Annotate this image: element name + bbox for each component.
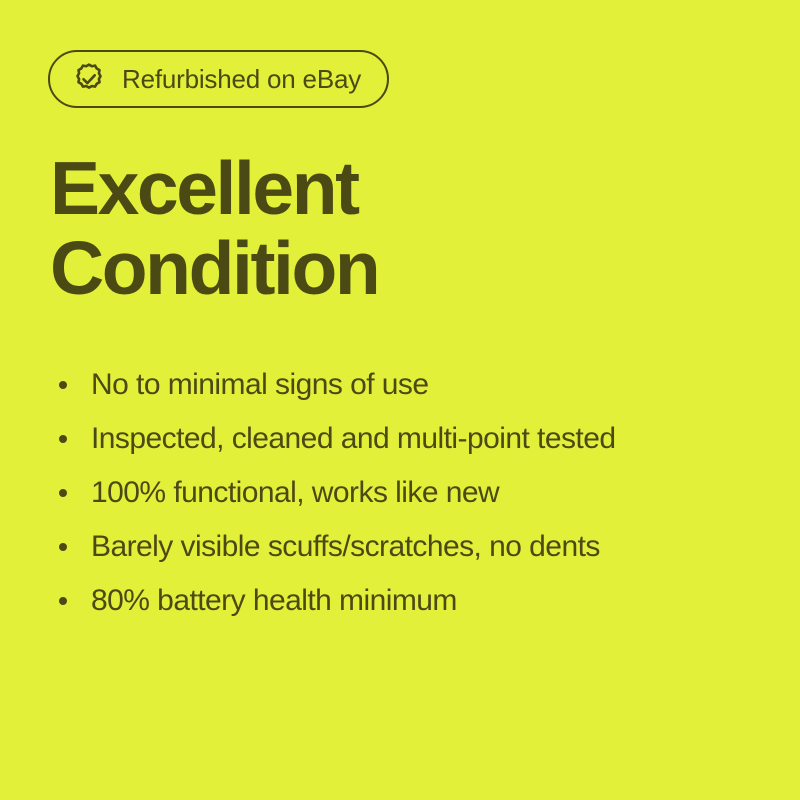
bullet-dot-icon [59, 597, 67, 605]
bullet-dot-icon [59, 543, 67, 551]
page-title: Excellent Condition [50, 148, 750, 308]
refurbished-badge: Refurbished on eBay [48, 50, 389, 108]
list-item: Inspected, cleaned and multi-point teste… [50, 412, 770, 466]
bullet-dot-icon [59, 381, 67, 389]
list-item: 100% functional, works like new [50, 466, 770, 520]
bullet-dot-icon [59, 489, 67, 497]
list-item: No to minimal signs of use [50, 358, 770, 412]
bullet-dot-icon [59, 435, 67, 443]
condition-feature-list: No to minimal signs of use Inspected, cl… [50, 358, 770, 628]
list-item: 80% battery health minimum [50, 574, 770, 628]
list-item-label: 80% battery health minimum [91, 586, 457, 616]
list-item-label: No to minimal signs of use [91, 370, 429, 400]
list-item: Barely visible scuffs/scratches, no dent… [50, 520, 770, 574]
list-item-label: Barely visible scuffs/scratches, no dent… [91, 532, 600, 562]
list-item-label: 100% functional, works like new [91, 478, 499, 508]
page-title-line-1: Excellent [50, 148, 750, 228]
page-title-line-2: Condition [50, 228, 750, 308]
list-item-label: Inspected, cleaned and multi-point teste… [91, 424, 615, 454]
verified-rosette-check-icon [72, 62, 106, 96]
refurbished-condition-card: Refurbished on eBay Excellent Condition … [0, 0, 800, 800]
refurbished-badge-label: Refurbished on eBay [122, 66, 361, 92]
